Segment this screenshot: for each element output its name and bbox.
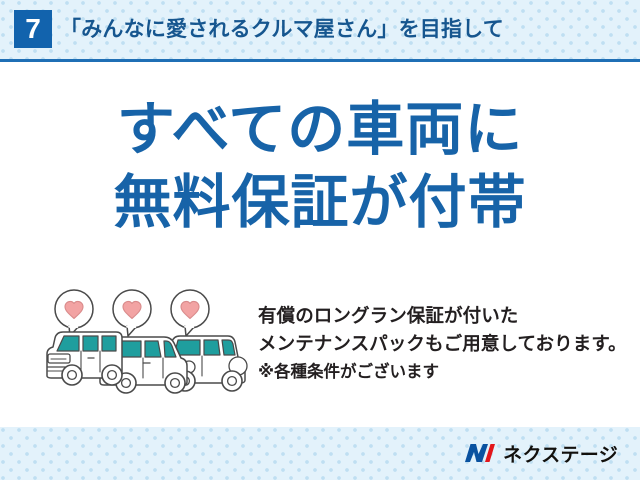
car-kei-van — [47, 332, 122, 385]
brand-name: ネクステージ — [503, 440, 618, 467]
header-band: 7 「みんなに愛されるクルマ屋さん」を目指して — [0, 0, 640, 59]
header-divider — [0, 59, 640, 62]
headline: すべての車両に 無料保証が付帯 — [0, 96, 640, 237]
copy-line-2: メンテナンスパックもご用意しております。 — [258, 330, 630, 358]
page-title: 「みんなに愛されるクルマ屋さん」を目指して — [60, 0, 504, 59]
section-number-badge: 7 — [14, 10, 52, 48]
copy-note: ※各種条件がございます — [258, 359, 630, 385]
headline-line-1: すべての車両に — [0, 96, 640, 163]
copy-line-1: 有償のロングラン保証が付いた — [258, 302, 630, 330]
cars-illustration — [42, 288, 257, 398]
nextage-n-logo-icon — [462, 440, 496, 466]
brand-lockup: ネクステージ — [462, 438, 618, 468]
promo-slide: 7 「みんなに愛されるクルマ屋さん」を目指して すべての車両に 無料保証が付帯 — [0, 0, 640, 480]
body-copy: 有償のロングラン保証が付いた メンテナンスパックもご用意しております。 ※各種条… — [258, 302, 630, 386]
headline-line-2: 無料保証が付帯 — [0, 169, 640, 236]
footer-band: ネクステージ — [0, 427, 640, 480]
